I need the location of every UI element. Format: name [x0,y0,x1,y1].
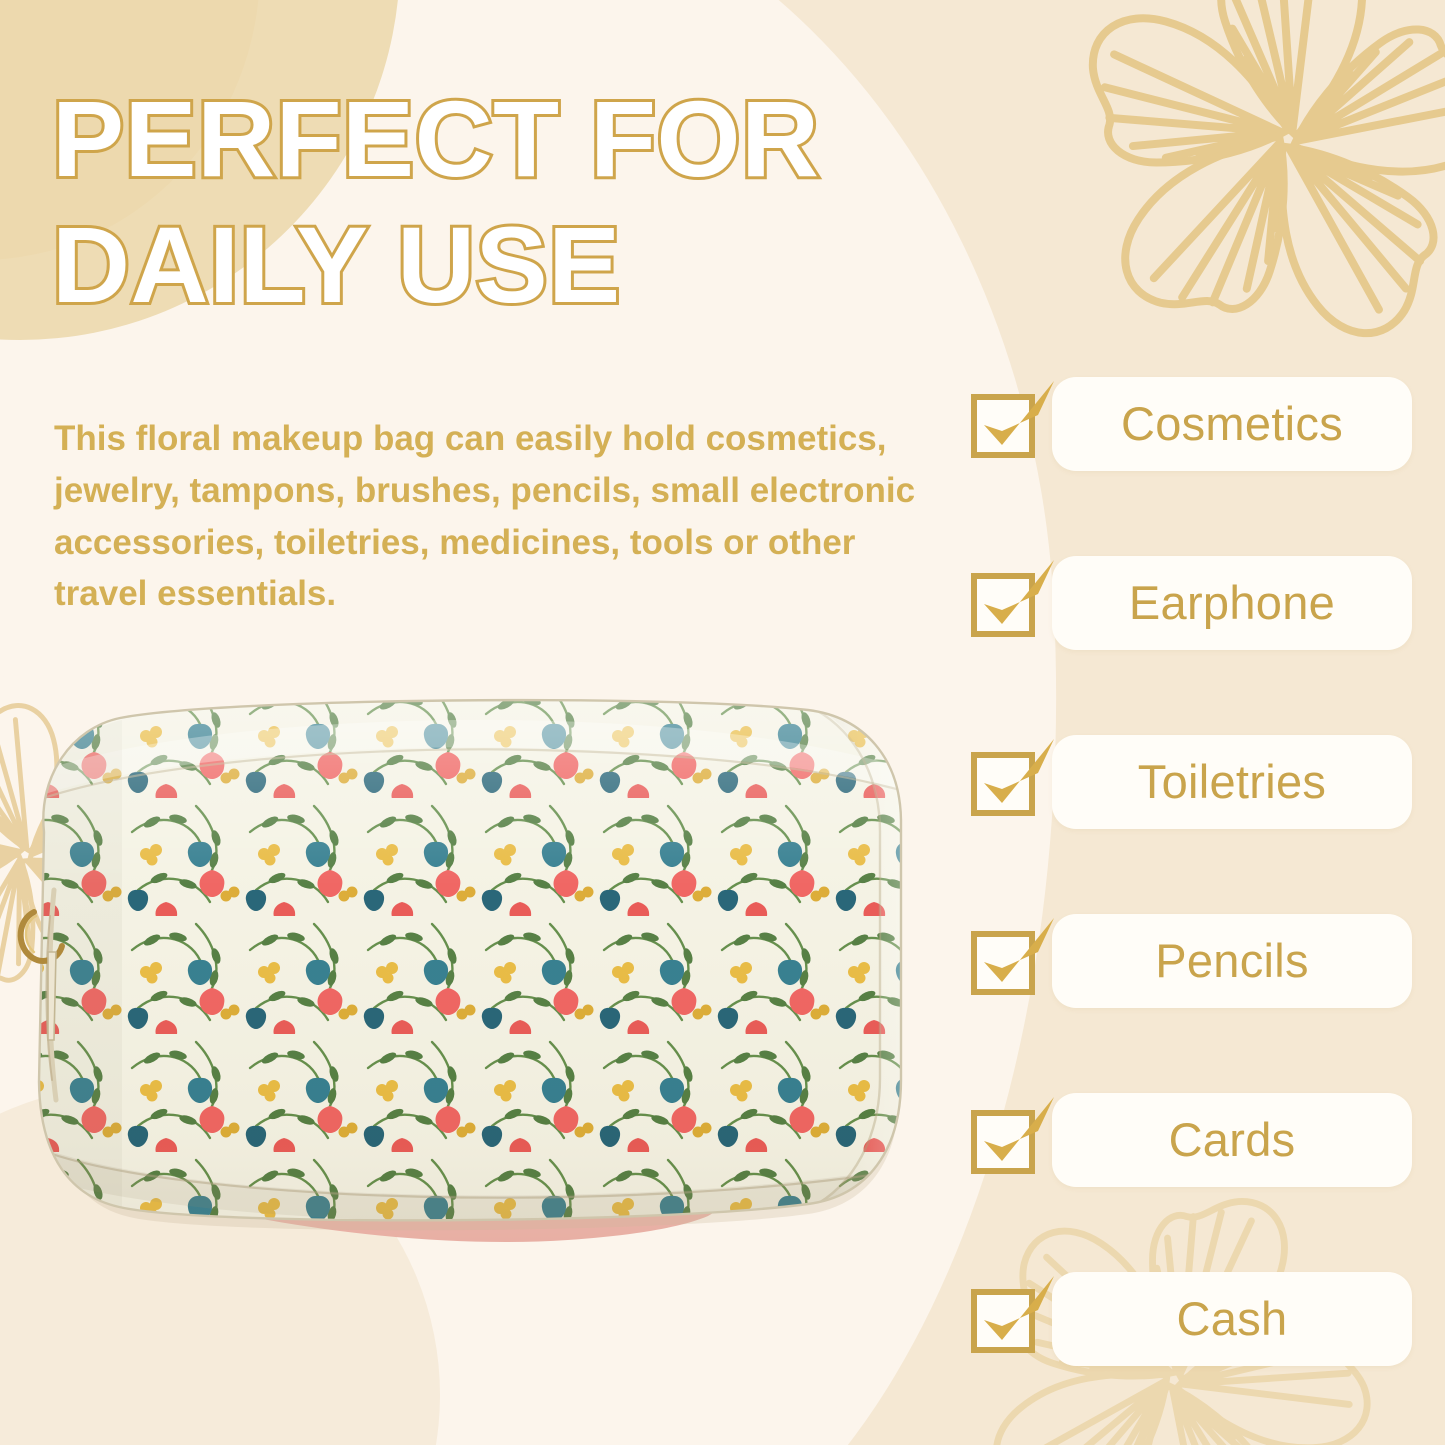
checklist-item-label: Cash [1177,1291,1288,1346]
checklist-item-label: Earphone [1129,575,1335,630]
checklist-item-cosmetics[interactable]: Cosmetics [972,334,1412,513]
page-title: PERFECT FOR DAILY USE [52,76,982,329]
checkbox-checked-icon[interactable] [972,751,1034,813]
product-image-floral-makeup-bag [8,680,948,1320]
checkbox-checked-icon[interactable] [972,572,1034,634]
product-infographic: PERFECT FOR DAILY USE This floral makeup… [0,0,1445,1445]
checklist-item-label: Toiletries [1138,754,1326,809]
checkbox-checked-icon[interactable] [972,1288,1034,1350]
product-description: This floral makeup bag can easily hold c… [54,413,954,620]
checklist-item-cash[interactable]: Cash [972,1229,1412,1408]
checklist-label-pill: Toiletries [1052,735,1412,829]
checklist-label-pill: Cash [1052,1272,1412,1366]
checklist-label-pill: Cards [1052,1093,1412,1187]
use-case-checklist: Cosmetics Earphone Toiletr [972,334,1412,1408]
checklist-item-toiletries[interactable]: Toiletries [972,692,1412,871]
checklist-item-cards[interactable]: Cards [972,1050,1412,1229]
checklist-label-pill: Pencils [1052,914,1412,1008]
makeup-bag-body [8,680,948,1320]
checklist-item-label: Cards [1169,1112,1296,1167]
checklist-item-label: Cosmetics [1121,396,1343,451]
checkbox-checked-icon[interactable] [972,1109,1034,1171]
checkbox-checked-icon[interactable] [972,393,1034,455]
checklist-label-pill: Earphone [1052,556,1412,650]
checklist-label-pill: Cosmetics [1052,377,1412,471]
checklist-item-label: Pencils [1155,933,1309,988]
checklist-item-earphone[interactable]: Earphone [972,513,1412,692]
checkbox-checked-icon[interactable] [972,930,1034,992]
checklist-item-pencils[interactable]: Pencils [972,871,1412,1050]
